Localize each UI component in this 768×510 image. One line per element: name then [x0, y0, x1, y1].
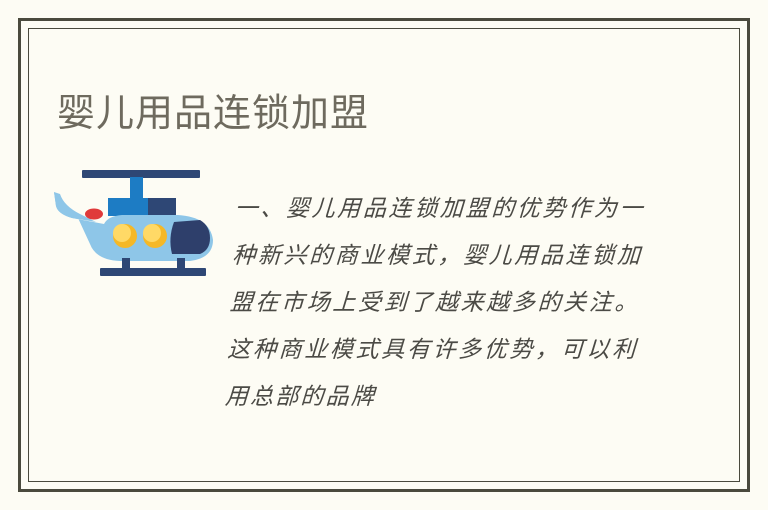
engine-housing-left-icon	[108, 198, 148, 216]
rotor-mast-icon	[130, 177, 143, 201]
landing-skid-icon	[100, 268, 206, 276]
engine-housing-right-icon	[148, 198, 176, 216]
document-page: 婴儿用品连锁加盟	[0, 0, 768, 510]
windshield-icon	[170, 220, 210, 254]
page-title: 婴儿用品连锁加盟	[57, 91, 369, 137]
content-row: 一、婴儿用品连锁加盟的优势作为一种新兴的商业模式，婴儿用品连锁加盟在市场上受到了…	[40, 160, 690, 420]
helicopter-illustration	[50, 162, 220, 277]
tail-light-icon	[85, 209, 103, 220]
side-window-1-highlight-icon	[113, 224, 131, 242]
article-body: 一、婴儿用品连锁加盟的优势作为一种新兴的商业模式，婴儿用品连锁加盟在市场上受到了…	[224, 186, 646, 421]
rotor-blade-icon	[82, 170, 200, 178]
side-window-2-highlight-icon	[143, 224, 161, 242]
